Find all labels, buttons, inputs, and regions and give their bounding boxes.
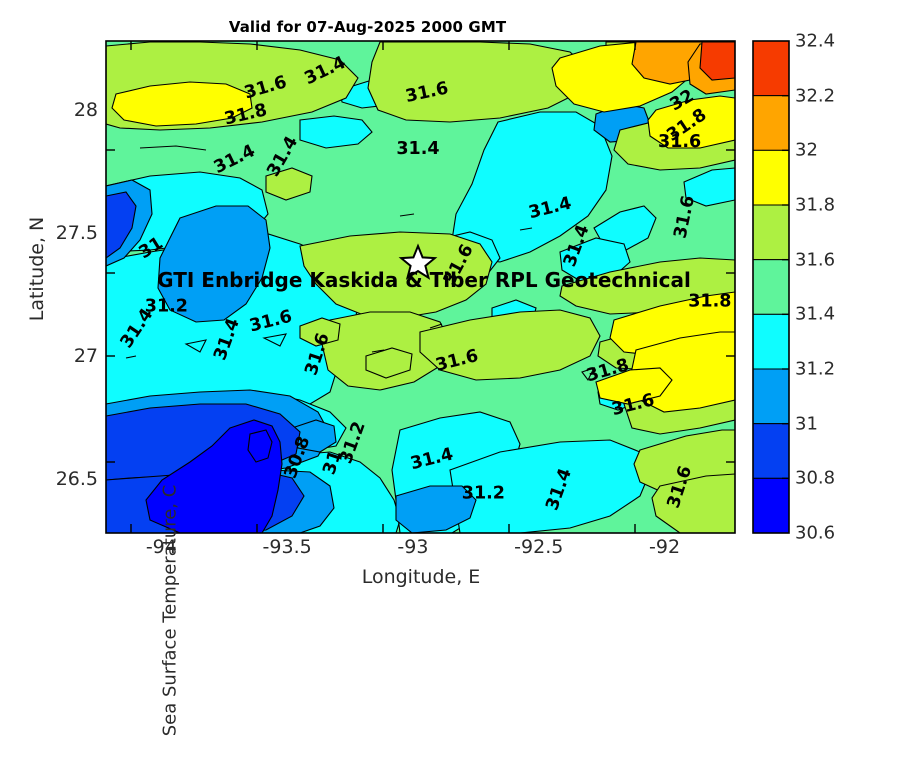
colorbar[interactable] <box>753 41 789 533</box>
y-axis-label: Latitude, N <box>26 169 48 369</box>
contour-label-9: 31.4 <box>396 139 439 159</box>
contour-label-6: 31.6 <box>658 132 701 152</box>
colorbar-band-1 <box>753 96 789 151</box>
colorbar-band-3 <box>753 205 789 260</box>
x-tick-0: -94 <box>146 536 177 558</box>
x-tick-4: -92 <box>649 536 680 558</box>
colorbar-band-2 <box>753 150 789 205</box>
x-tick-2: -93 <box>397 536 428 558</box>
contour-label-28: 31.2 <box>462 484 505 504</box>
figure-root: Valid for 07-Aug-2025 2000 GMT <box>0 0 900 600</box>
y-tick-1: 27.5 <box>20 222 98 244</box>
colorbar-band-4 <box>753 260 789 315</box>
page-title: Valid for 07-Aug-2025 2000 GMT <box>0 18 735 36</box>
colorbar-band-8 <box>753 478 789 533</box>
colorbar-tick-label-0: 32.4 <box>795 31 835 52</box>
colorbar-tick-label-4: 31.6 <box>795 249 835 270</box>
colorbar-band-5 <box>753 314 789 369</box>
colorbar-band-0 <box>753 41 789 96</box>
x-tick-3: -92.5 <box>514 536 563 558</box>
colorbar-tick-label-6: 31.2 <box>795 359 835 380</box>
colorbar-tick-label-1: 32.2 <box>795 85 835 106</box>
colorbar-tick-label-8: 30.8 <box>795 468 835 489</box>
colorbar-band-6 <box>753 369 789 424</box>
site-label: GTI Enbridge Kaskida & Tiber RPL Geotech… <box>157 268 691 292</box>
colorbar-tick-label-9: 30.6 <box>795 523 835 544</box>
colorbar-tick-label-7: 31 <box>795 413 818 434</box>
contour-label-16: 31.8 <box>688 292 731 312</box>
contour-plot: 31.631.431.831.63231.831.631.431.431.431… <box>0 0 900 600</box>
colorbar-tick-label-2: 32 <box>795 140 818 161</box>
colorbar-band-7 <box>753 424 789 479</box>
y-tick-0: 28 <box>20 99 98 121</box>
y-tick-2: 27 <box>20 345 98 367</box>
colorbar-label: Sea Surface Temperature, C <box>160 441 181 781</box>
y-tick-3: 26.5 <box>20 468 98 490</box>
colorbar-tick-label-5: 31.4 <box>795 304 835 325</box>
colorbar-tick-label-3: 31.8 <box>795 195 835 216</box>
x-tick-1: -93.5 <box>263 536 312 558</box>
x-axis-label: Longitude, E <box>106 566 736 588</box>
